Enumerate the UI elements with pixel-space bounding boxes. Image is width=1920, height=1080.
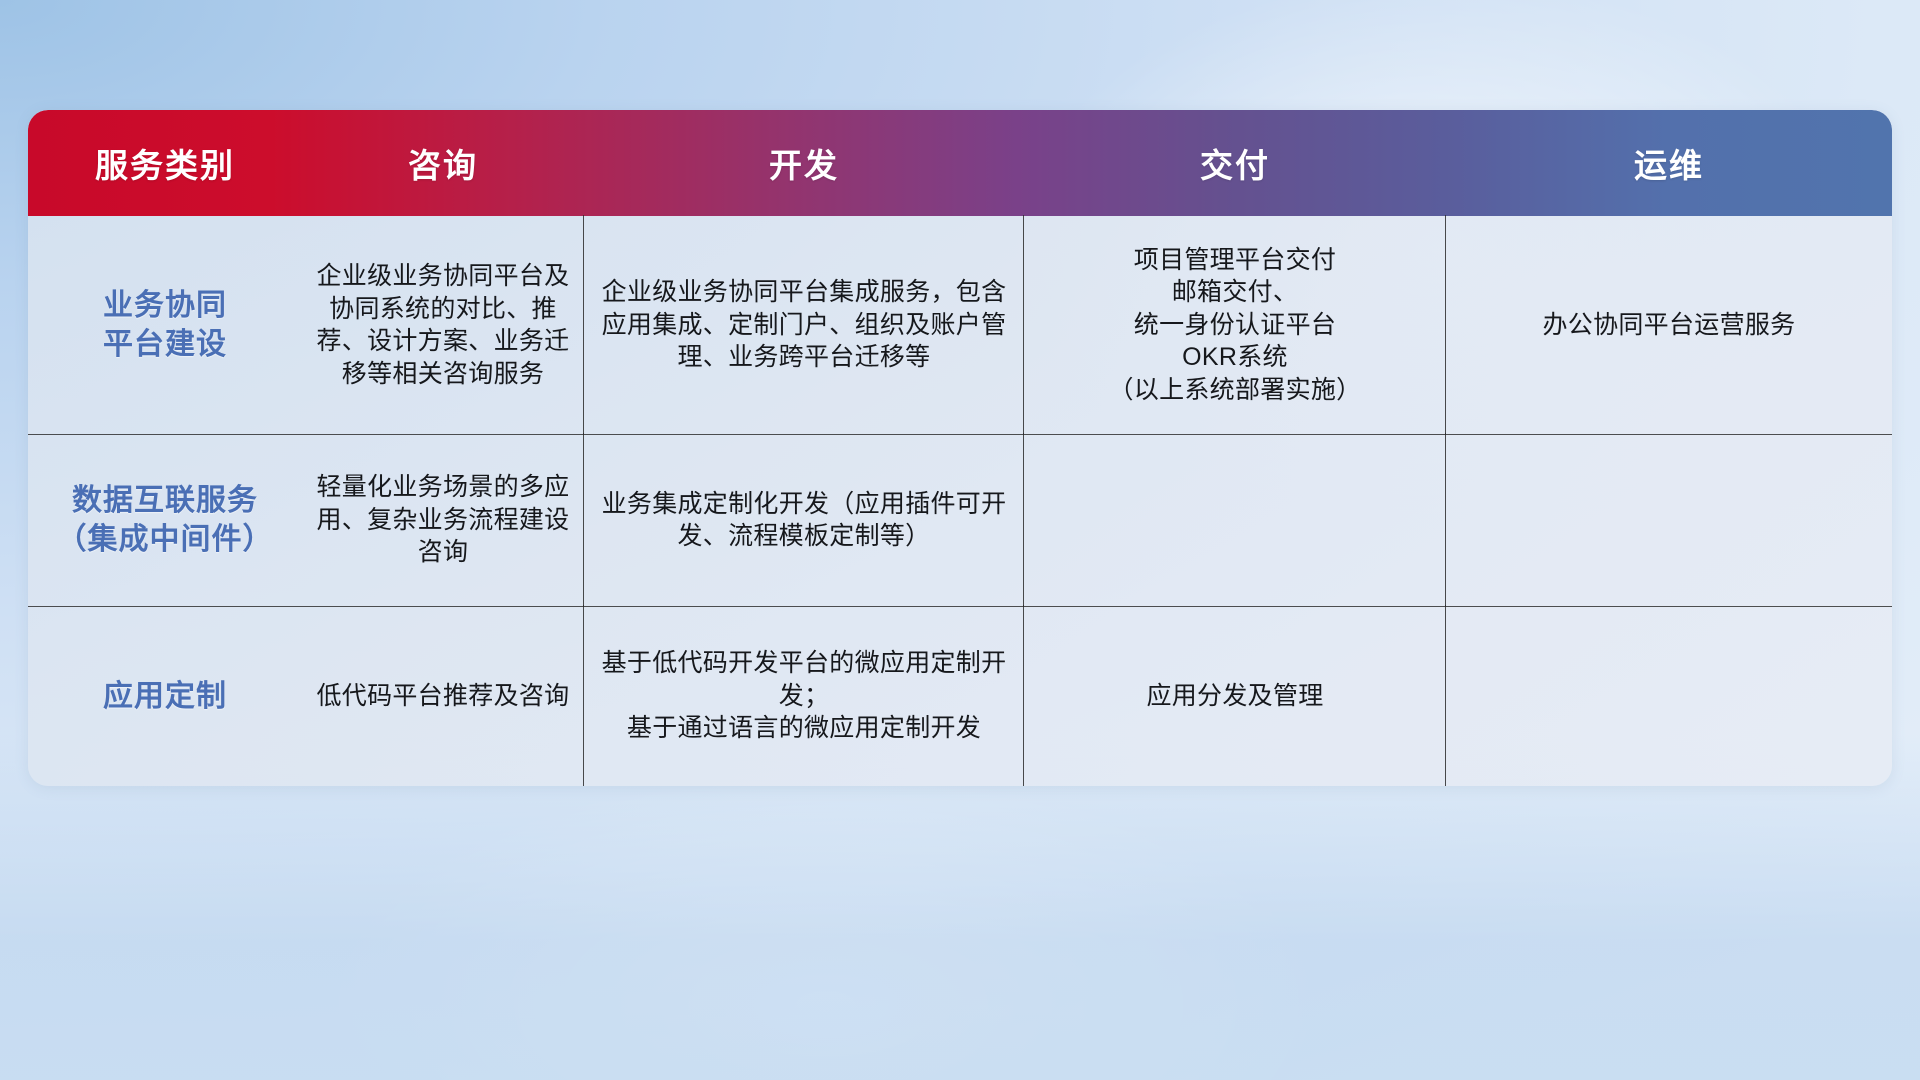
cell-operations	[1446, 434, 1892, 606]
background-tint-bottom	[0, 734, 1920, 1080]
category-label: 应用定制	[103, 677, 227, 716]
cell-consulting: 低代码平台推荐及咨询	[302, 606, 584, 786]
cell-delivery: 应用分发及管理	[1024, 606, 1446, 786]
cell-delivery	[1024, 434, 1446, 606]
cell-text: 企业级业务协同平台集成服务，包含应用集成、定制门户、组织及账户管理、业务跨平台迁…	[598, 276, 1010, 374]
column-header-label: 服务类别	[95, 139, 235, 187]
column-header-label: 运维	[1634, 139, 1704, 187]
cell-text: 基于低代码开发平台的微应用定制开发；基于通过语言的微应用定制开发	[598, 647, 1010, 745]
cell-development: 基于低代码开发平台的微应用定制开发；基于通过语言的微应用定制开发	[584, 606, 1024, 786]
table-row: 数据互联服务（集成中间件） 轻量化业务场景的多应用、复杂业务流程建设咨询 业务集…	[28, 434, 1892, 606]
category-label: 数据互联服务（集成中间件）	[57, 481, 274, 559]
cell-consulting: 企业级业务协同平台及协同系统的对比、推荐、设计方案、业务迁移等相关咨询服务	[302, 216, 584, 434]
cell-development: 业务集成定制化开发（应用插件可开发、流程模板定制等）	[584, 434, 1024, 606]
table-row: 业务协同平台建设 企业级业务协同平台及协同系统的对比、推荐、设计方案、业务迁移等…	[28, 216, 1892, 434]
cell-text: 轻量化业务场景的多应用、复杂业务流程建设咨询	[316, 471, 570, 569]
column-header-label: 咨询	[408, 139, 478, 187]
table-row: 应用定制 低代码平台推荐及咨询 基于低代码开发平台的微应用定制开发；基于通过语言…	[28, 606, 1892, 786]
cell-category: 应用定制	[28, 606, 302, 786]
cell-text: 项目管理平台交付邮箱交付、统一身份认证平台OKR系统（以上系统部署实施）	[1108, 244, 1361, 407]
column-header-delivery: 交付	[1024, 110, 1446, 216]
cell-category: 数据互联服务（集成中间件）	[28, 434, 302, 606]
cell-category: 业务协同平台建设	[28, 216, 302, 434]
category-label: 业务协同平台建设	[103, 286, 227, 364]
cell-text: 低代码平台推荐及咨询	[316, 680, 569, 713]
cell-consulting: 轻量化业务场景的多应用、复杂业务流程建设咨询	[302, 434, 584, 606]
column-header-label: 开发	[769, 139, 839, 187]
column-header-category: 服务类别	[28, 110, 302, 216]
cell-delivery: 项目管理平台交付邮箱交付、统一身份认证平台OKR系统（以上系统部署实施）	[1024, 216, 1446, 434]
cell-text: 业务集成定制化开发（应用插件可开发、流程模板定制等）	[598, 488, 1010, 553]
cell-text: 企业级业务协同平台及协同系统的对比、推荐、设计方案、业务迁移等相关咨询服务	[316, 260, 570, 390]
cell-development: 企业级业务协同平台集成服务，包含应用集成、定制门户、组织及账户管理、业务跨平台迁…	[584, 216, 1024, 434]
table-header-row: 服务类别 咨询 开发 交付 运维	[28, 110, 1892, 216]
service-matrix-table: 服务类别 咨询 开发 交付 运维 业务协同平台建设 企业级业务协同平台及协同系统…	[28, 110, 1892, 786]
cell-text: 应用分发及管理	[1146, 680, 1323, 713]
column-header-operations: 运维	[1446, 110, 1892, 216]
cell-operations: 办公协同平台运营服务	[1446, 216, 1892, 434]
column-header-label: 交付	[1200, 139, 1270, 187]
cell-text: 办公协同平台运营服务	[1542, 309, 1795, 342]
column-header-development: 开发	[584, 110, 1024, 216]
cell-operations	[1446, 606, 1892, 786]
column-header-consulting: 咨询	[302, 110, 584, 216]
